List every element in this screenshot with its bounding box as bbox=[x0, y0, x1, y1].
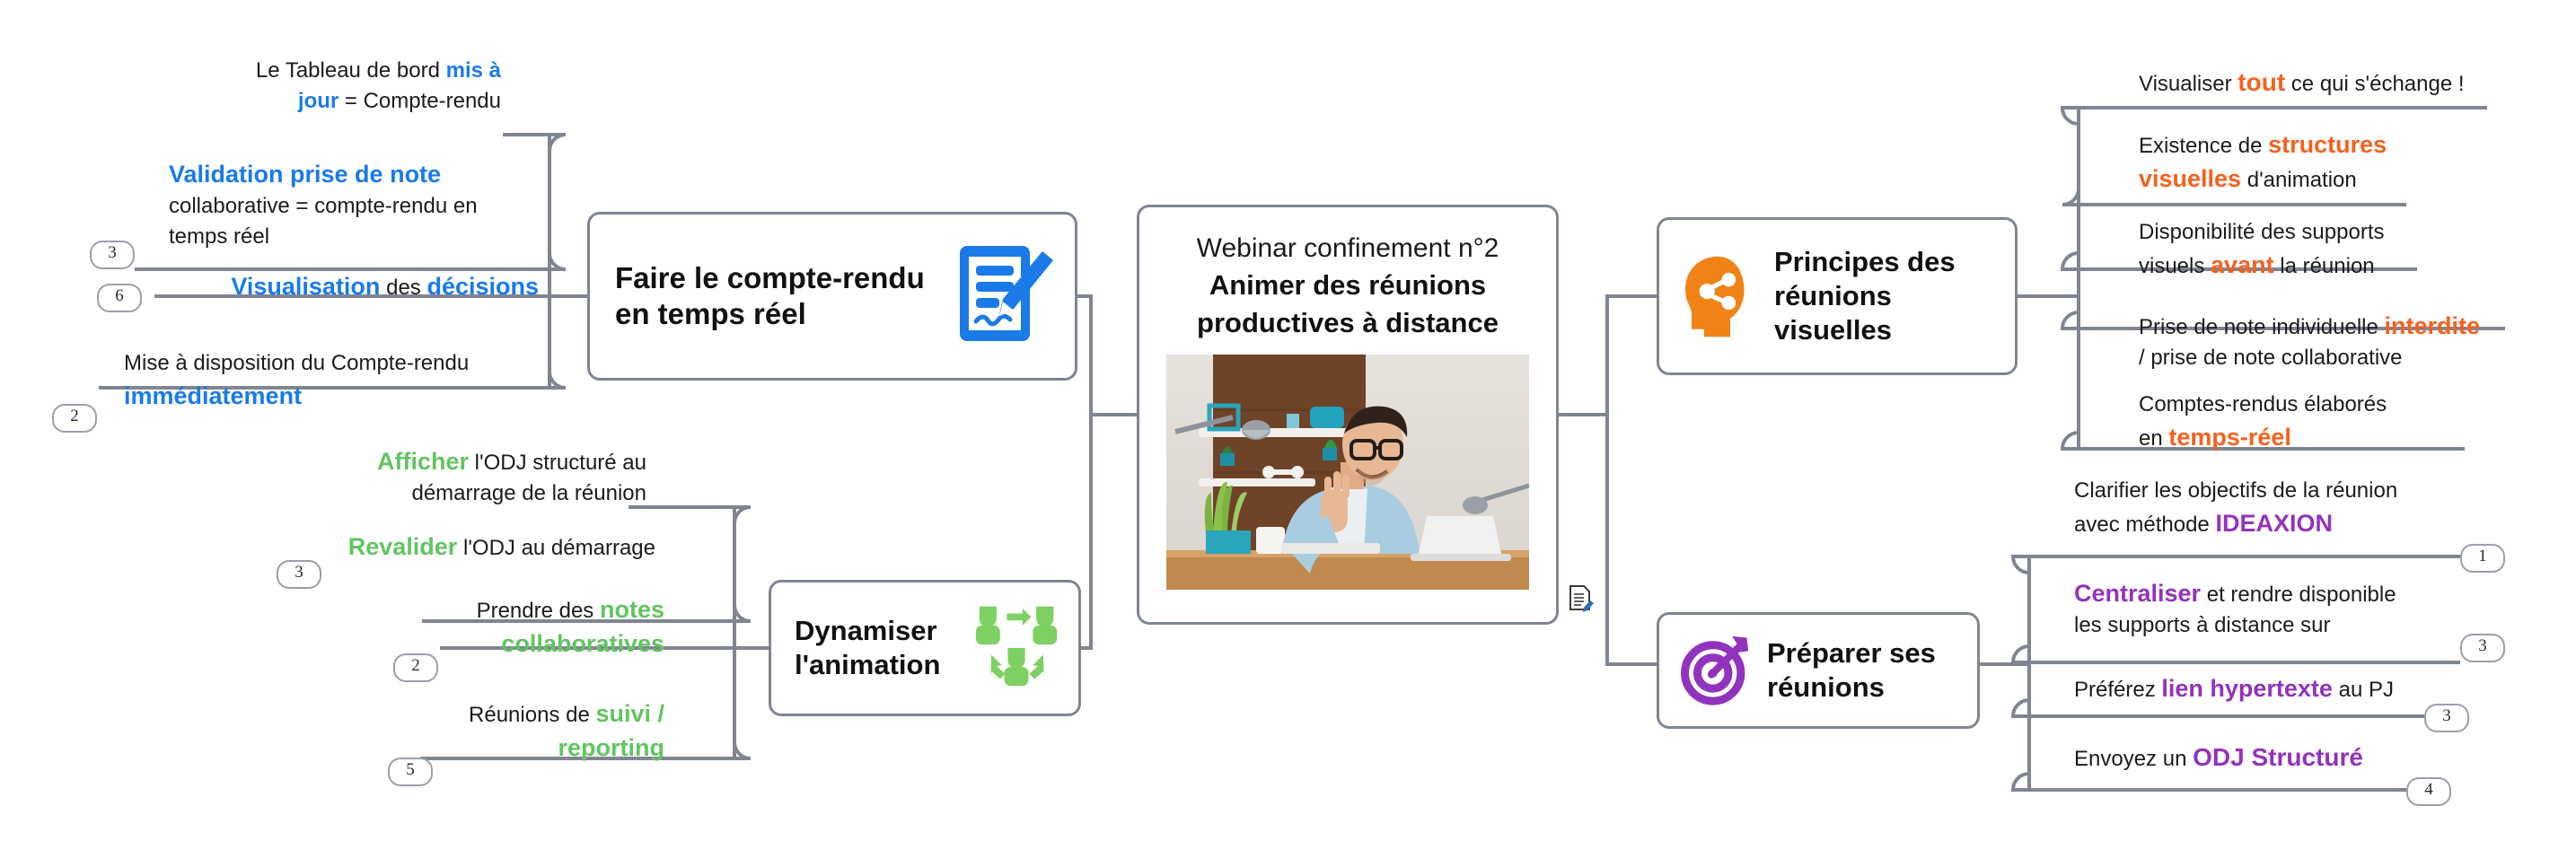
leaf-text: Envoyez un ODJ Structuré bbox=[2074, 747, 2363, 771]
leaf-b4-item2[interactable]: Centraliser et rendre disponibleles supp… bbox=[2074, 576, 2460, 641]
leaf-b4-item4[interactable]: Envoyez un ODJ Structuré bbox=[2074, 740, 2451, 775]
note-attachment-icon[interactable] bbox=[1568, 584, 1595, 615]
leaf-text: Visualisation des décisions bbox=[231, 276, 539, 300]
badge-value: 3 bbox=[2442, 706, 2451, 725]
leaf-b1-item3[interactable]: Visualisation des décisions bbox=[171, 269, 539, 303]
leaf-text: Revalider l'ODJ au démarrage bbox=[348, 536, 655, 560]
badge-value: 2 bbox=[411, 656, 420, 675]
branch-title-line2: réunions bbox=[1767, 670, 1936, 705]
branch-title-line2: en temps réel bbox=[615, 296, 925, 332]
leaf-text: Existence de structuresvisuelles d'anima… bbox=[2139, 134, 2387, 192]
branch-title-line1: Dynamiser bbox=[795, 614, 940, 648]
leaf-text: Prise de note individuelle interdite/ pr… bbox=[2139, 315, 2480, 370]
leaf-b2-item2[interactable]: Revalider l'ODJ au démarrage bbox=[296, 530, 655, 564]
central-topic-node[interactable]: Webinar confinement n°2 Animer des réuni… bbox=[1137, 205, 1559, 625]
leaf-text: Comptes-rendus élaborésen temps-réel bbox=[2139, 392, 2387, 451]
badge-b4-item2: 3 bbox=[2460, 634, 2505, 662]
leaf-b3-item4[interactable]: Prise de note individuelle interdite/ pr… bbox=[2139, 309, 2525, 373]
leaf-text: Le Tableau de bord mis àjour = Compte-re… bbox=[256, 58, 501, 113]
leaf-b4-item3[interactable]: Préférez lien hypertexte au PJ bbox=[2074, 671, 2451, 705]
leaf-b4-item1[interactable]: Clarifier les objectifs de la réunionave… bbox=[2074, 476, 2460, 540]
central-title-line1: Animer des réunions bbox=[1209, 267, 1486, 303]
badge-value: 5 bbox=[406, 760, 415, 779]
badge-value: 1 bbox=[2478, 547, 2487, 565]
branch-title-line1: Faire le compte-rendu bbox=[615, 260, 925, 296]
leaf-text: Validation prise de notecollaborative = … bbox=[169, 163, 478, 249]
badge-b1-item4: 2 bbox=[52, 404, 97, 433]
leaf-b3-item5[interactable]: Comptes-rendus élaborésen temps-réel bbox=[2139, 390, 2498, 454]
badge-b1-item3: 6 bbox=[97, 284, 142, 312]
leaf-text: Mise à disposition du Compte-renduimmédi… bbox=[124, 351, 469, 409]
branch-title-line1: Préparer ses bbox=[1767, 636, 1936, 670]
branch-node-principes[interactable]: Principes des réunions visuelles bbox=[1657, 217, 2018, 375]
leaf-text: Prendre des notescollaboratives bbox=[477, 599, 664, 657]
leaf-b1-item1[interactable]: Le Tableau de bord mis àjour = Compte-re… bbox=[162, 56, 501, 117]
leaf-text: Visualiser tout ce qui s'échange ! bbox=[2139, 72, 2465, 96]
leaf-text: Disponibilité des supportsvisuels avant … bbox=[2139, 220, 2384, 278]
badge-b4-item4: 4 bbox=[2406, 777, 2451, 806]
branch-node-preparer[interactable]: Préparer ses réunions bbox=[1657, 612, 1980, 729]
mindmap-canvas: Webinar confinement n°2 Animer des réuni… bbox=[0, 0, 2576, 841]
badge-b2-item3: 2 bbox=[393, 653, 438, 682]
badge-value: 6 bbox=[115, 286, 124, 305]
badge-b4-item1: 1 bbox=[2460, 544, 2505, 573]
badge-value: 4 bbox=[2424, 780, 2433, 799]
branch-title-line2: l'animation bbox=[795, 648, 940, 682]
central-subtitle: Webinar confinement n°2 bbox=[1197, 231, 1499, 266]
leaf-b2-item4[interactable]: Réunions de suivi /reporting bbox=[395, 696, 664, 766]
badge-b2-item2: 3 bbox=[277, 560, 321, 589]
target-arrow-icon bbox=[1679, 632, 1753, 710]
leaf-b2-item3[interactable]: Prendre des notescollaboratives bbox=[386, 592, 664, 661]
branch-title-line1: Principes des bbox=[1774, 245, 1997, 279]
document-pen-icon bbox=[956, 241, 1055, 353]
leaf-b3-item3[interactable]: Disponibilité des supportsvisuels avant … bbox=[2139, 217, 2498, 282]
badge-value: 3 bbox=[2478, 636, 2487, 655]
badge-value: 3 bbox=[295, 563, 303, 582]
badge-b2-item4: 5 bbox=[388, 758, 433, 786]
leaf-b1-item2[interactable]: Validation prise de notecollaborative = … bbox=[169, 157, 546, 252]
branch-node-dynamiser[interactable]: Dynamiser l'animation bbox=[769, 580, 1081, 716]
leaf-b3-item2[interactable]: Existence de structuresvisuelles d'anima… bbox=[2139, 127, 2498, 197]
leaf-b2-item1[interactable]: Afficher l'ODJ structuré audémarrage de … bbox=[332, 444, 646, 509]
leaf-b1-item4[interactable]: Mise à disposition du Compte-renduimmédi… bbox=[124, 348, 546, 413]
central-photo bbox=[1166, 355, 1529, 590]
branch-title-line2: réunions visuelles bbox=[1774, 279, 1997, 347]
leaf-text: Préférez lien hypertexte au PJ bbox=[2074, 678, 2394, 702]
leaf-text: Clarifier les objectifs de la réunionave… bbox=[2074, 478, 2397, 537]
badge-value: 3 bbox=[108, 243, 117, 262]
leaf-text: Centraliser et rendre disponibleles supp… bbox=[2074, 583, 2396, 637]
leaf-text: Réunions de suivi /reporting bbox=[469, 703, 664, 761]
central-title-line2: productives à distance bbox=[1197, 305, 1499, 341]
head-share-icon bbox=[1681, 251, 1758, 342]
leaf-b3-item1[interactable]: Visualiser tout ce qui s'échange ! bbox=[2139, 65, 2516, 101]
branch-node-compte-rendu[interactable]: Faire le compte-rendu en temps réel bbox=[587, 212, 1077, 381]
badge-value: 2 bbox=[70, 407, 79, 425]
badge-b4-item3: 3 bbox=[2424, 704, 2469, 732]
leaf-text: Afficher l'ODJ structuré audémarrage de … bbox=[377, 451, 646, 505]
people-network-icon bbox=[972, 601, 1062, 696]
badge-b1-item2: 3 bbox=[90, 241, 135, 269]
